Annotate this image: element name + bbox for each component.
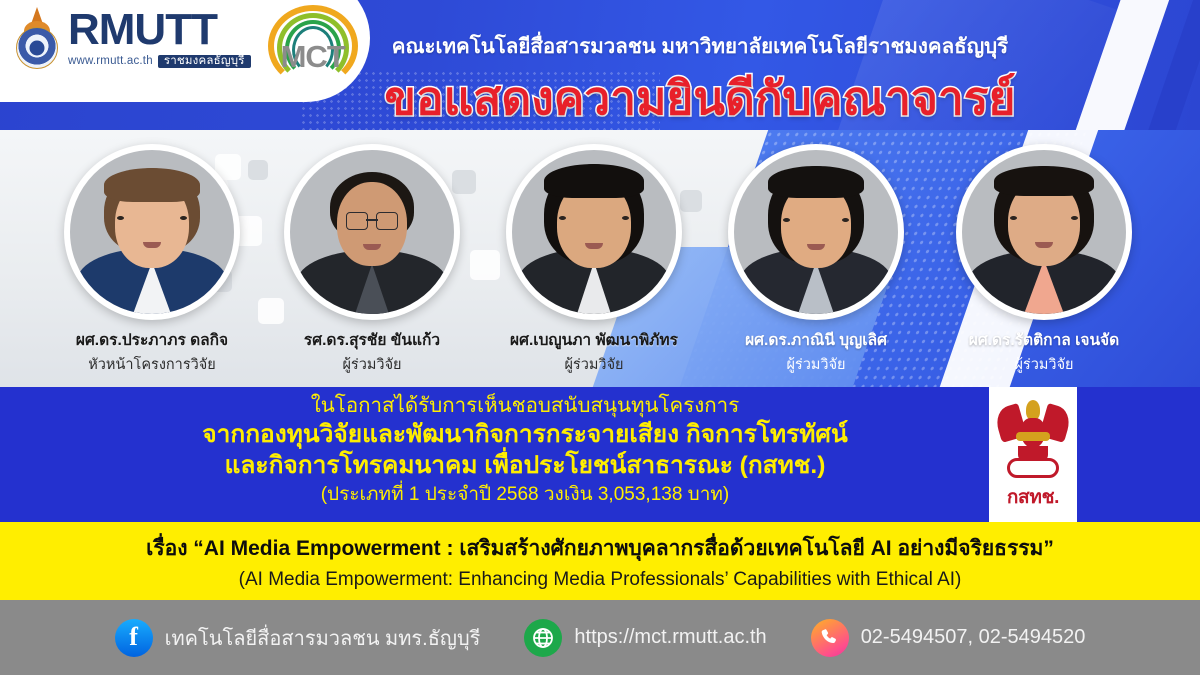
person-role: ผู้ร่วมวิจัย	[494, 353, 694, 376]
portrait-illustration	[512, 150, 676, 314]
project-title-thai: เรื่อง “AI Media Empowerment : เสริมสร้า…	[146, 532, 1054, 565]
globe-icon[interactable]	[524, 619, 562, 657]
portrait-illustration	[290, 150, 454, 314]
people-row: ผศ.ดร.ประภาภร ดลกิจ หัวหน้าโครงการวิจัย	[0, 130, 1200, 387]
avatar	[956, 144, 1132, 320]
funding-band: ในโอกาสได้รับการเห็นชอบสนับสนุนทุนโครงกา…	[0, 387, 1200, 522]
funding-line-3: และกิจการโทรคมนาคม เพื่อประโยชน์สาธารณะ …	[60, 450, 990, 481]
rmutt-wordmark: RMUTT	[68, 8, 251, 52]
congratulations-poster: RMUTT www.rmutt.ac.th ราชมงคลธัญบุรี MCT…	[0, 0, 1200, 675]
project-title-english: (AI Media Empowerment: Enhancing Media P…	[239, 569, 962, 591]
person-role: ผู้ร่วมวิจัย	[716, 353, 916, 376]
person-name: ผศ.เบญูนภา พัฒนาพิภัทร	[494, 327, 694, 352]
faculty-line: คณะเทคโนโลยีสื่อสารมวลชน มหาวิทยาลัยเทคโ…	[330, 30, 1070, 63]
portrait-illustration	[70, 150, 234, 314]
funding-text: ในโอกาสได้รับการเห็นชอบสนับสนุนทุนโครงกา…	[60, 393, 990, 508]
person-name: ผศ.ดร.รัตติกาล เจนจัด	[944, 327, 1144, 352]
avatar	[284, 144, 460, 320]
rmutt-url-text: www.rmutt.ac.th	[68, 56, 153, 68]
funding-line-4: (ประเภทที่ 1 ประจำปี 2568 วงเงิน 3,053,1…	[60, 482, 990, 508]
funding-line-1: ในโอกาสได้รับการเห็นชอบสนับสนุนทุนโครงกา…	[60, 393, 990, 419]
person-card: ผศ.ดร.ภาณินี บุญเลิศ ผู้ร่วมวิจัย	[716, 144, 916, 376]
person-name: ผศ.ดร.ภาณินี บุญเลิศ	[716, 327, 916, 352]
person-name: ผศ.ดร.ประภาภร ดลกิจ	[52, 327, 252, 352]
people-section: ผศ.ดร.ประภาภร ดลกิจ หัวหน้าโครงการวิจัย	[0, 130, 1200, 387]
person-role: ผู้ร่วมวิจัย	[272, 353, 472, 376]
rmutt-logo: RMUTT www.rmutt.ac.th ราชมงคลธัญบุรี	[68, 8, 251, 69]
garuda-icon	[997, 398, 1069, 480]
facebook-icon[interactable]: f	[115, 619, 153, 657]
avatar	[64, 144, 240, 320]
rmutt-seal-icon	[16, 7, 58, 69]
facebook-label: เทคโนโลยีสื่อสารมวลชน มทร.ธัญบุรี	[165, 622, 481, 654]
poster-header: RMUTT www.rmutt.ac.th ราชมงคลธัญบุรี MCT…	[0, 0, 1200, 130]
nbtc-logo: กสทช.	[989, 387, 1077, 522]
person-card: ผศ.ดร.ประภาภร ดลกิจ หัวหน้าโครงการวิจัย	[52, 144, 252, 376]
avatar	[728, 144, 904, 320]
person-role: ผู้ร่วมวิจัย	[944, 353, 1144, 376]
portrait-illustration	[734, 150, 898, 314]
person-name: รศ.ดร.สุรชัย ขันแก้ว	[272, 327, 472, 352]
rmutt-thai-name: ราชมงคลธัญบุรี	[158, 55, 251, 69]
facebook-contact[interactable]: f เทคโนโลยีสื่อสารมวลชน มทร.ธัญบุรี	[115, 619, 481, 657]
person-card: ผศ.ดร.รัตติกาล เจนจัด ผู้ร่วมวิจัย	[944, 144, 1144, 376]
contact-footer: f เทคโนโลยีสื่อสารมวลชน มทร.ธัญบุรี http…	[0, 600, 1200, 675]
website-label: https://mct.rmutt.ac.th	[574, 626, 766, 649]
portrait-illustration	[962, 150, 1126, 314]
project-title-band: เรื่อง “AI Media Empowerment : เสริมสร้า…	[0, 522, 1200, 600]
phone-contact[interactable]: 02-5494507, 02-5494520	[811, 619, 1086, 657]
person-card: ผศ.เบญูนภา พัฒนาพิภัทร ผู้ร่วมวิจัย	[494, 144, 694, 376]
phone-label: 02-5494507, 02-5494520	[861, 626, 1086, 649]
person-role: หัวหน้าโครงการวิจัย	[52, 353, 252, 376]
phone-icon[interactable]	[811, 619, 849, 657]
funding-line-2: จากกองทุนวิจัยและพัฒนากิจการกระจายเสียง …	[60, 419, 990, 450]
nbtc-label: กสทช.	[1007, 482, 1059, 512]
website-contact[interactable]: https://mct.rmutt.ac.th	[524, 619, 766, 657]
avatar	[506, 144, 682, 320]
headline: ขอแสดงความยินดีกับคณาจารย์	[300, 62, 1100, 130]
eyeglasses-icon	[346, 212, 398, 228]
person-card: รศ.ดร.สุรชัย ขันแก้ว ผู้ร่วมวิจัย	[272, 144, 472, 376]
